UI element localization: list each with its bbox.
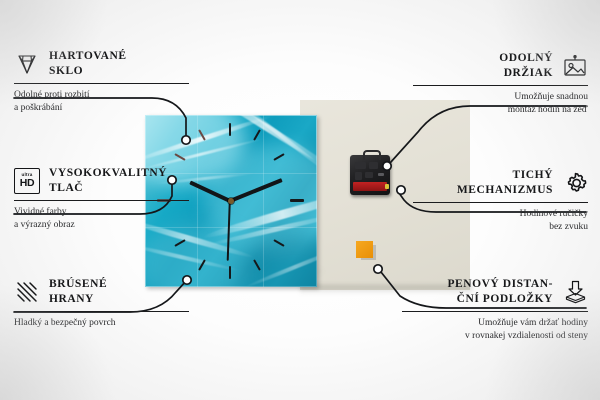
divider: [14, 83, 189, 84]
feature-durable-hanger: ODOLNÝ DRŽIAK Umožňuje snadnou montáž ho…: [413, 51, 588, 116]
divider: [413, 202, 588, 203]
feature-header: BRÚSENÉ HRANY: [14, 277, 189, 307]
feature-description: Umožňuje snadnou montáž hodin na zeď: [413, 91, 588, 116]
battery: [353, 182, 387, 191]
feature-polished-edges: BRÚSENÉ HRANY Hladký a bezpečný povrch: [14, 277, 189, 330]
feature-header: PENOVÝ DISTAN- ČNÍ PODLOŽKY: [402, 277, 588, 307]
feature-description: Vividné farby a výrazný obraz: [14, 206, 189, 231]
divider: [413, 85, 588, 86]
feature-description: Odolné proti rozbití a poškrábání: [14, 89, 189, 114]
hanger-loop-icon: [363, 150, 381, 160]
feature-title: HARTOVANÉ SKLO: [49, 49, 189, 79]
gear-icon: [562, 170, 588, 196]
feature-title: TICHÝ MECHANIZMUS: [413, 168, 553, 198]
feature-description: Hodinové ručičky bez zvuku: [413, 208, 588, 233]
feature-header: ultra HD VYSOKOKVALITNÝ TLAČ: [14, 166, 189, 196]
feature-high-quality-print: ultra HD VYSOKOKVALITNÝ TLAČ Vividné far…: [14, 166, 189, 231]
divider: [14, 311, 189, 312]
feature-header: ODOLNÝ DRŽIAK: [413, 51, 588, 81]
feature-description: Umožňuje vám držať hodiny v rovnakej vzd…: [402, 317, 588, 342]
feature-header: HARTOVANÉ SKLO: [14, 49, 189, 79]
feature-title: BRÚSENÉ HRANY: [49, 277, 189, 307]
divider: [402, 311, 588, 312]
picture-frame-icon: [562, 53, 588, 79]
foam-spacer-pad: [356, 241, 373, 258]
hatch-lines-icon: [14, 279, 40, 305]
feature-description: Hladký a bezpečný povrch: [14, 317, 189, 330]
clock-movement: [350, 155, 390, 195]
feature-title: VYSOKOKVALITNÝ TLAČ: [49, 166, 189, 196]
feature-tempered-glass: HARTOVANÉ SKLO Odolné proti rozbití a po…: [14, 49, 189, 114]
ultra-hd-icon: ultra HD: [14, 168, 40, 194]
feature-silent-mechanism: TICHÝ MECHANIZMUS Hodinové ručičky bez z…: [413, 168, 588, 233]
feature-foam-spacers: PENOVÝ DISTAN- ČNÍ PODLOŽKY Umožňuje vám…: [402, 277, 588, 342]
arrow-onto-pad-icon: [562, 279, 588, 305]
diamond-icon: [14, 51, 40, 77]
divider: [14, 200, 189, 201]
product-infographic: HARTOVANÉ SKLO Odolné proti rozbití a po…: [0, 0, 600, 400]
feature-title: PENOVÝ DISTAN- ČNÍ PODLOŽKY: [402, 277, 553, 307]
feature-header: TICHÝ MECHANIZMUS: [413, 168, 588, 198]
feature-title: ODOLNÝ DRŽIAK: [413, 51, 553, 81]
